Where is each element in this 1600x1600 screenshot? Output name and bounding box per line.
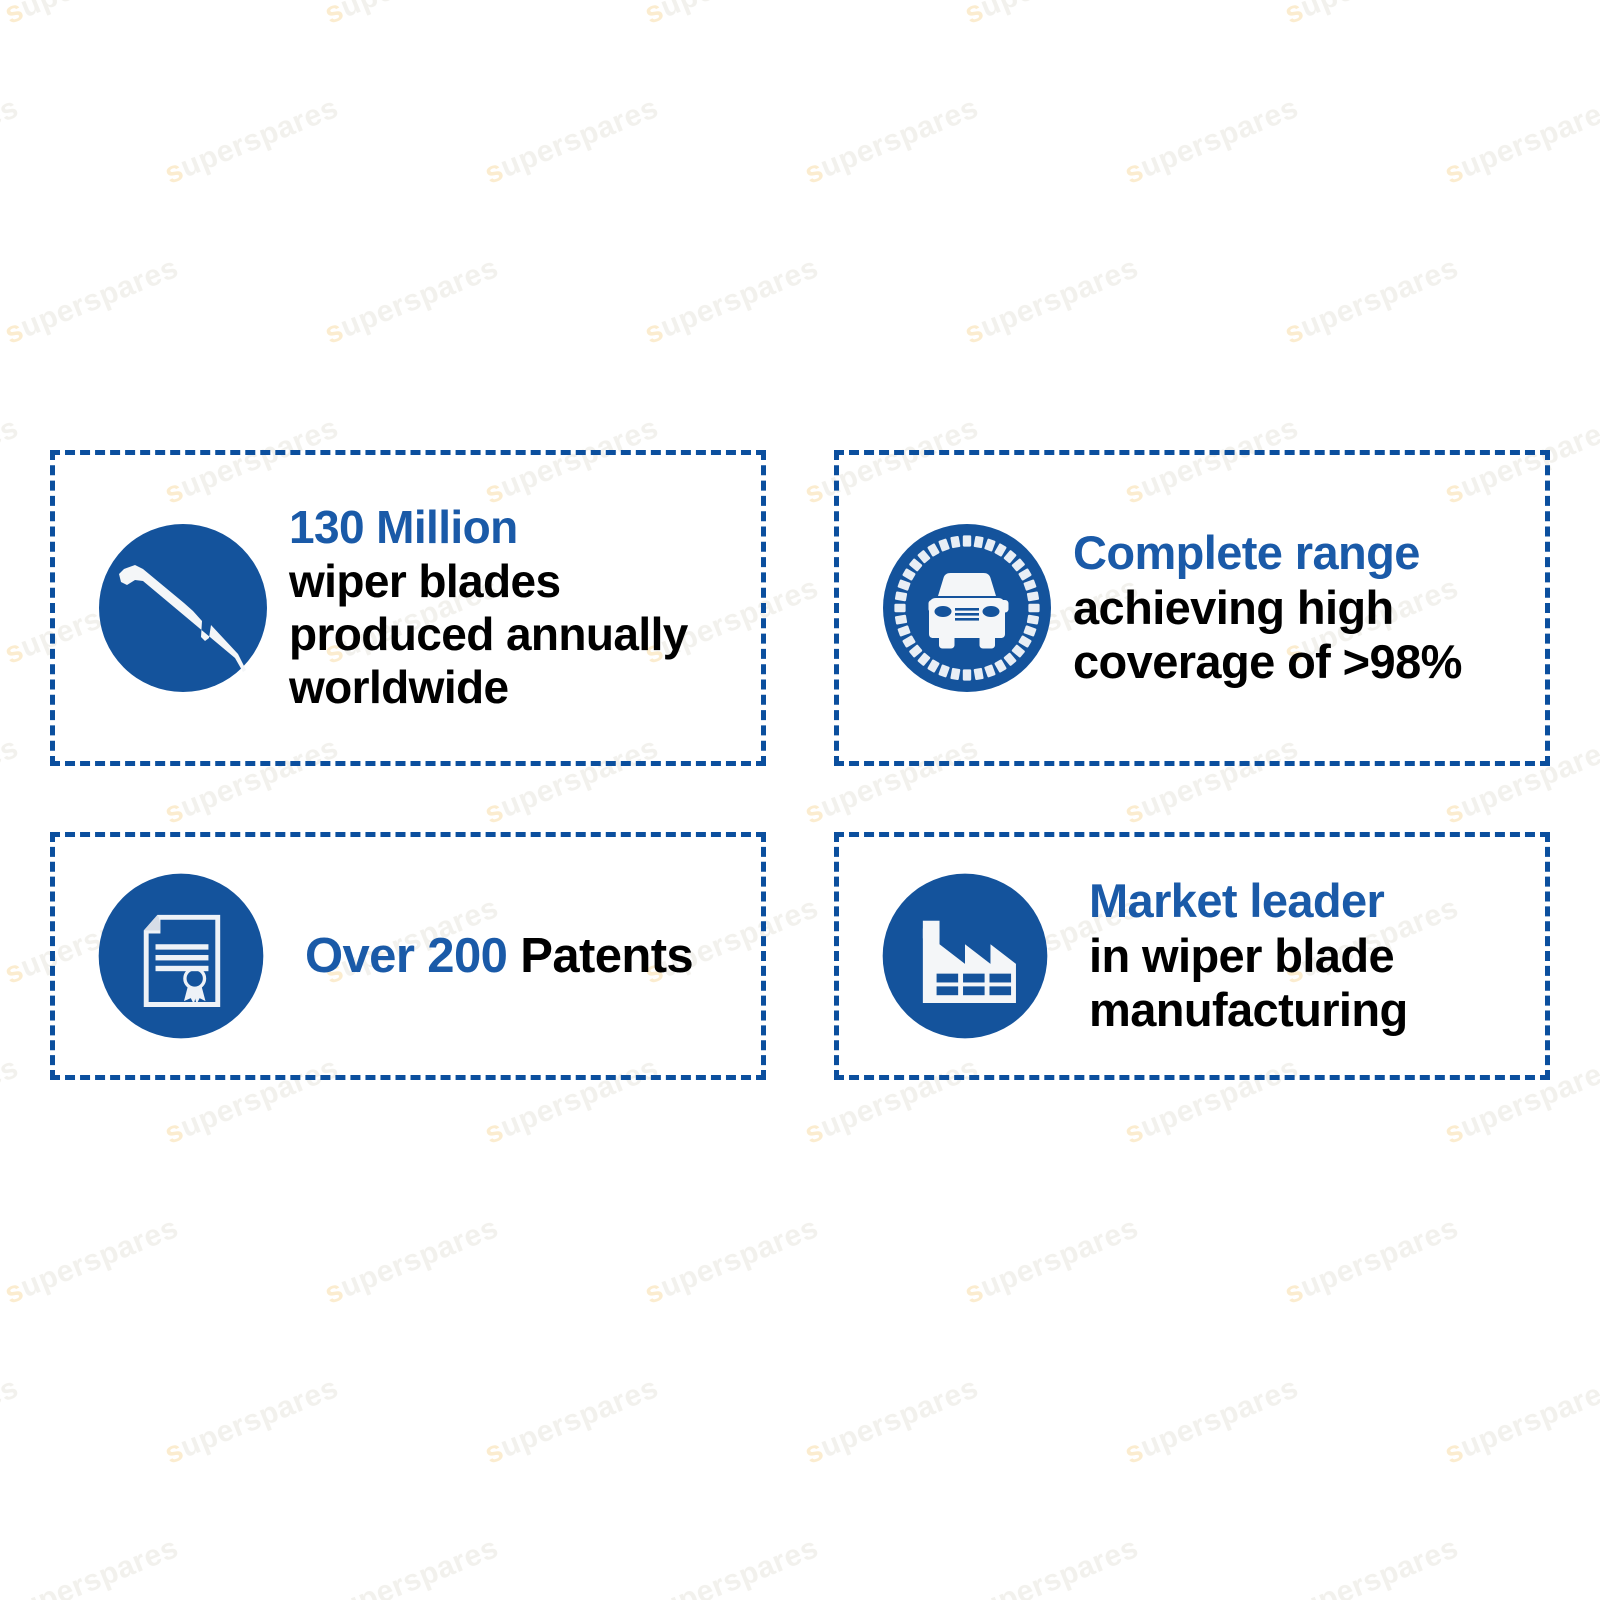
watermark-text: superspares — [0, 411, 23, 511]
watermark-text: superspares — [320, 1531, 503, 1600]
panel-highlight: 130 Million — [289, 501, 751, 554]
car-coverage-icon — [867, 508, 1067, 708]
panel-wiper-blades: 130 Million wiper blades produced annual… — [50, 450, 766, 766]
watermark-text: superspares — [320, 0, 503, 32]
watermark-text: superspares — [1440, 1371, 1600, 1471]
panel-line: produced annually — [289, 608, 751, 661]
watermark-text: superspares — [0, 1211, 183, 1311]
watermark-text: superspares — [1280, 1211, 1463, 1311]
watermark-text: superspares — [1120, 1371, 1303, 1471]
watermark-text: superspares — [640, 251, 823, 351]
watermark-text: superspares — [160, 91, 343, 191]
watermark-text: superspares — [640, 0, 823, 32]
watermark-text: superspares — [160, 1371, 343, 1471]
panel-line: coverage of >98% — [1073, 635, 1535, 690]
watermark-text: superspares — [0, 91, 23, 191]
panel-patents-text: Over 200 Patents — [279, 928, 751, 985]
panel-line: worldwide — [289, 661, 751, 714]
watermark-text: superspares — [0, 1051, 23, 1151]
panel-highlight: Complete range — [1073, 526, 1535, 581]
panel-line: manufacturing — [1089, 983, 1535, 1038]
watermark-text: superspares — [640, 1211, 823, 1311]
watermark-text: superspares — [1280, 251, 1463, 351]
watermark-text: superspares — [480, 91, 663, 191]
watermark-text: superspares — [0, 1371, 23, 1471]
panel-patents: Over 200 Patents — [50, 832, 766, 1080]
watermark-text: superspares — [640, 1531, 823, 1600]
watermark-text: superspares — [320, 1211, 503, 1311]
watermark-text: superspares — [1280, 0, 1463, 32]
panel-highlight: Over 200 — [305, 929, 507, 983]
watermark-text: superspares — [800, 91, 983, 191]
watermark-text: superspares — [1440, 91, 1600, 191]
patent-document-icon — [83, 858, 279, 1054]
panel-highlight: Market leader — [1089, 874, 1535, 929]
watermark-text: superspares — [0, 731, 23, 831]
panel-line: wiper blades — [289, 555, 751, 608]
watermark-text: superspares — [0, 251, 183, 351]
factory-icon — [867, 858, 1063, 1054]
panel-complete-range: Complete range achieving high coverage o… — [834, 450, 1550, 766]
feature-panel-grid: 130 Million wiper blades produced annual… — [50, 450, 1550, 1100]
watermark-text: superspares — [0, 0, 183, 32]
panel-line: achieving high — [1073, 581, 1535, 636]
panel-wiper-blades-text: 130 Million wiper blades produced annual… — [283, 501, 751, 714]
panel-line: in wiper blade — [1089, 929, 1535, 984]
watermark-text: superspares — [960, 1211, 1143, 1311]
watermark-text: superspares — [0, 1531, 183, 1600]
panel-market-leader-text: Market leader in wiper blade manufacturi… — [1063, 874, 1535, 1038]
watermark-text: superspares — [480, 1371, 663, 1471]
watermark-text: superspares — [320, 251, 503, 351]
panel-market-leader: Market leader in wiper blade manufacturi… — [834, 832, 1550, 1080]
panel-line: Patents — [520, 929, 693, 983]
watermark-text: superspares — [800, 1371, 983, 1471]
watermark-text: superspares — [1280, 1531, 1463, 1600]
watermark-text: superspares — [1120, 91, 1303, 191]
watermark-text: superspares — [960, 0, 1143, 32]
watermark-text: superspares — [960, 251, 1143, 351]
panel-complete-range-text: Complete range achieving high coverage o… — [1067, 526, 1535, 690]
watermark-text: superspares — [960, 1531, 1143, 1600]
wiper-blade-icon — [83, 508, 283, 708]
